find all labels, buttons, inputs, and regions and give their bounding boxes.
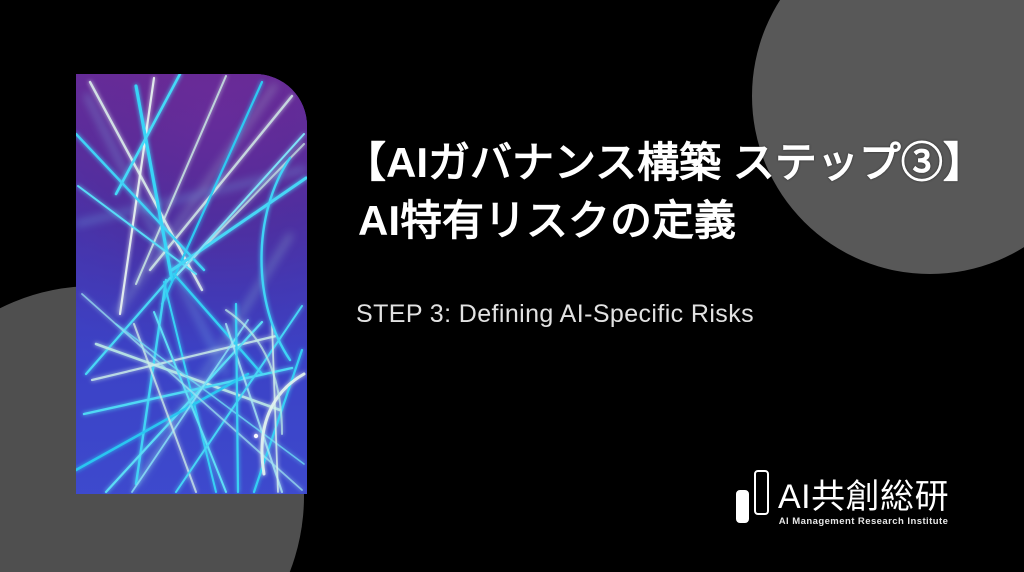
subtitle-text: STEP 3: Defining AI-Specific Risks bbox=[356, 300, 754, 329]
brand-logo: AI共創総研 AI Management Research Institute bbox=[736, 470, 949, 527]
presentation-slide: 【AIガバナンス構築 ステップ③】 AI特有リスクの定義 STEP 3: Def… bbox=[0, 0, 1024, 572]
logo-tagline: AI Management Research Institute bbox=[778, 516, 949, 527]
page-title-line-2: AI特有リスクの定義 bbox=[358, 192, 984, 250]
headline-block: 【AIガバナンス構築 ステップ③】 AI特有リスクの定義 bbox=[344, 134, 984, 250]
page-title-line-1: 【AIガバナンス構築 ステップ③】 bbox=[344, 134, 984, 192]
light-streaks-graphic bbox=[76, 74, 307, 494]
logo-text-block: AI共創総研 AI Management Research Institute bbox=[778, 480, 949, 527]
logo-bars-icon bbox=[736, 470, 769, 527]
logo-bar-short-icon bbox=[736, 490, 749, 523]
logo-name: AI共創総研 bbox=[778, 480, 949, 515]
abstract-image-panel bbox=[76, 74, 307, 494]
logo-bar-tall-icon bbox=[754, 470, 769, 515]
